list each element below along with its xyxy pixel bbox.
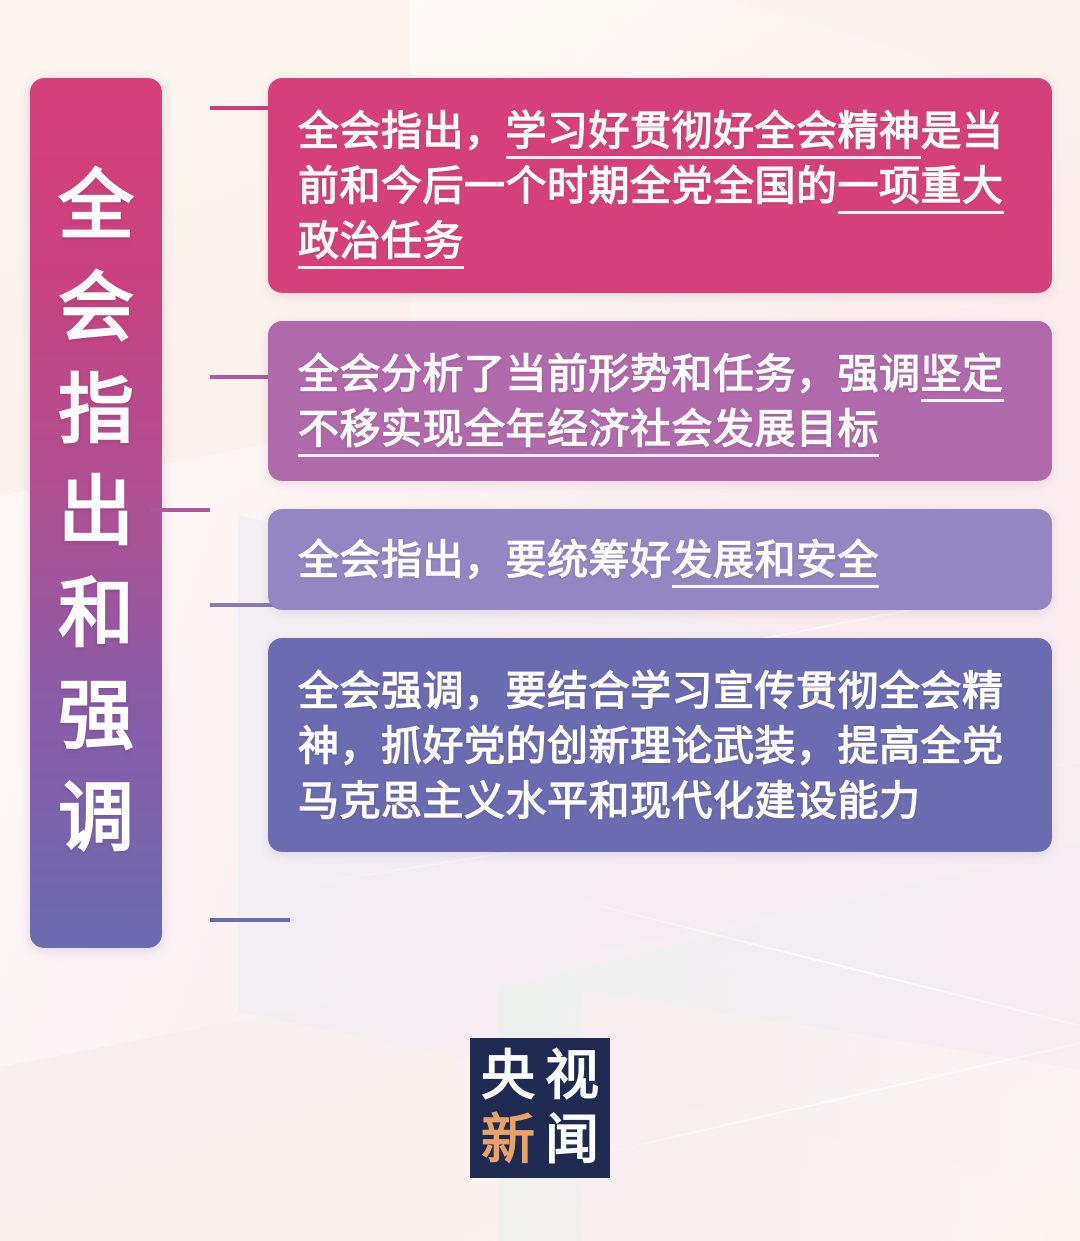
banner-char-5: 强 [58, 679, 134, 755]
banner-char-6: 调 [58, 781, 134, 857]
logo-char-yang: 央 [481, 1049, 535, 1103]
banner-char-3: 出 [58, 475, 134, 551]
card-2-seg-0: 全会分析了当前形势和任务，强调 [298, 351, 921, 397]
point-card-1-text: 全会指出，学习好贯彻好全会精神是当前和今后一个时期全党全国的一项重大政治任务 [298, 104, 1024, 269]
logo-container: 央 视 新 闻 [0, 1038, 1080, 1178]
card-1-seg-0: 全会指出， [298, 108, 506, 154]
point-card-2: 全会分析了当前形势和任务，强调坚定不移实现全年经济社会发展目标 [268, 321, 1052, 481]
logo-char-wen: 闻 [545, 1113, 599, 1167]
banner-char-4: 和 [58, 577, 134, 653]
banner-char-2: 指 [58, 373, 134, 449]
card-3-seg-0: 全会指出，要统筹好 [298, 537, 672, 583]
point-card-3: 全会指出，要统筹好发展和安全 [268, 509, 1052, 610]
background-streak-3 [528, 887, 1080, 1051]
infographic-poster: 全 会 指 出 和 强 调 全 [0, 0, 1080, 1241]
logo-char-shi: 视 [545, 1049, 599, 1103]
card-4-seg-0: 全会强调，要结合学习宣传贯彻全会精神，抓好党的创新理论武装，提高全党马克思主义水… [298, 668, 1004, 824]
logo-char-xin: 新 [481, 1113, 535, 1167]
point-card-4: 全会强调，要结合学习宣传贯彻全会精神，抓好党的创新理论武装，提高全党马克思主义水… [268, 638, 1052, 853]
banner-char-1: 会 [58, 271, 134, 347]
point-card-3-text: 全会指出，要统筹好发展和安全 [298, 533, 1024, 588]
card-1-seg-1-emphasis: 学习好贯彻好全会精神 [506, 108, 921, 159]
vertical-title-banner: 全 会 指 出 和 强 调 [30, 78, 162, 948]
card-column: 全会指出，学习好贯彻好全会精神是当前和今后一个时期全党全国的一项重大政治任务 全… [268, 78, 1052, 880]
point-card-4-text: 全会强调，要结合学习宣传贯彻全会精神，抓好党的创新理论武装，提高全党马克思主义水… [298, 664, 1024, 829]
cctv-news-logo: 央 视 新 闻 [470, 1038, 610, 1178]
point-card-2-text: 全会分析了当前形势和任务，强调坚定不移实现全年经济社会发展目标 [298, 347, 1024, 457]
point-card-1: 全会指出，学习好贯彻好全会精神是当前和今后一个时期全党全国的一项重大政治任务 [268, 78, 1052, 293]
banner-char-0: 全 [58, 169, 134, 245]
card-3-seg-1-emphasis: 发展和安全 [672, 537, 880, 588]
